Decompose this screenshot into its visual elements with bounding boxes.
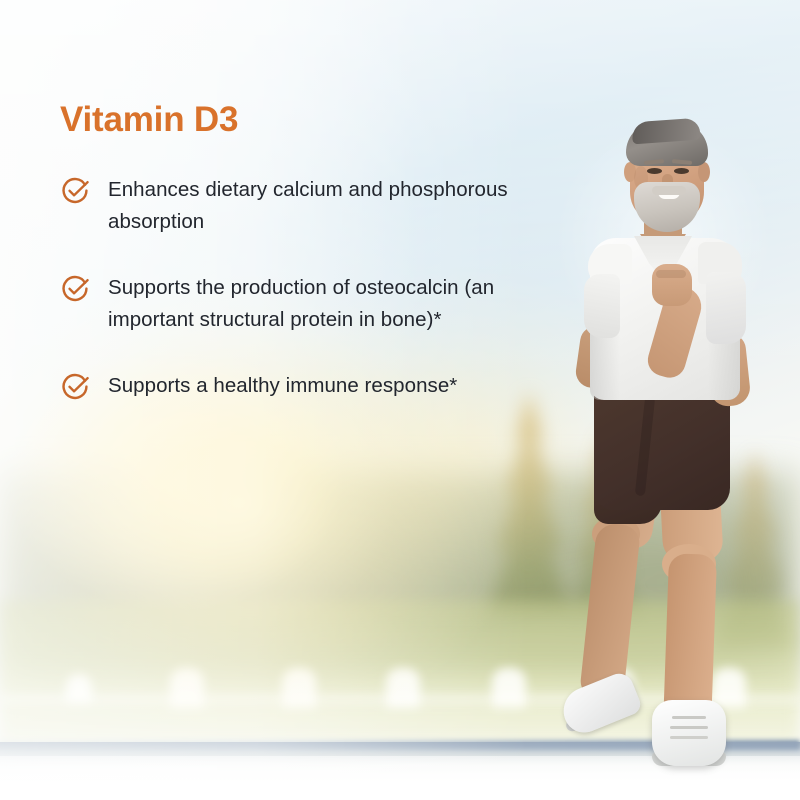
shoe-lace [672, 716, 706, 719]
runner-figure [548, 104, 800, 800]
right-sleeve [706, 272, 746, 344]
front-shoe [652, 700, 726, 766]
check-circle-icon [60, 274, 90, 304]
right-eye [674, 168, 689, 174]
left-sleeve [584, 274, 620, 338]
left-eye [647, 168, 662, 174]
list-item: Enhances dietary calcium and phosphorous… [60, 174, 530, 238]
fist-knuckles [656, 270, 686, 278]
hair-swoop [631, 118, 700, 145]
benefit-text: Enhances dietary calcium and phosphorous… [108, 174, 513, 238]
mustache [652, 186, 686, 195]
promo-banner: Vitamin D3 Enhances dietary calcium and … [0, 0, 800, 800]
check-circle-icon [60, 372, 90, 402]
benefits-list: Enhances dietary calcium and phosphorous… [60, 174, 530, 402]
shoe-lace [670, 736, 708, 739]
benefit-text: Supports a healthy immune response* [108, 370, 457, 402]
shoe-lace [670, 726, 708, 729]
page-title: Vitamin D3 [60, 100, 238, 140]
shorts [594, 382, 730, 510]
check-circle-icon [60, 176, 90, 206]
benefit-text: Supports the production of osteocalcin (… [108, 272, 513, 336]
list-item: Supports the production of osteocalcin (… [60, 272, 530, 336]
benefits-card: Vitamin D3 Enhances dietary calcium and … [0, 0, 560, 520]
list-item: Supports a healthy immune response* [60, 370, 530, 402]
